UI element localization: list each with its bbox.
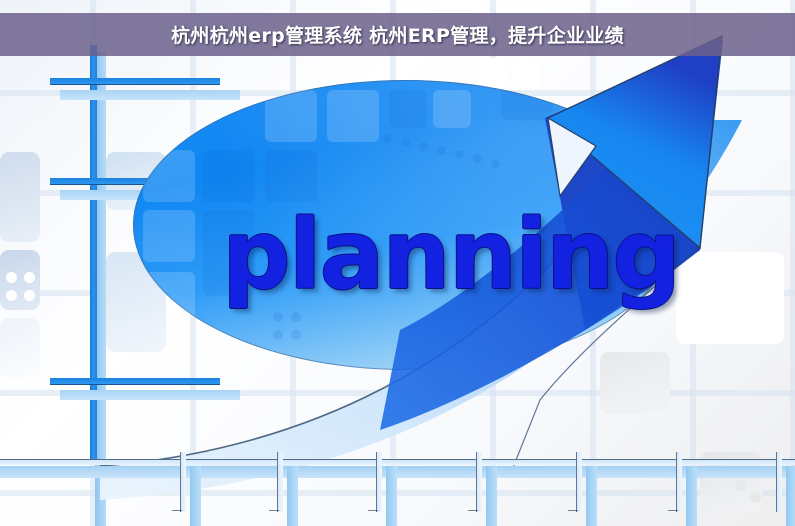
x-tick bbox=[376, 452, 382, 512]
x-tick-shadow bbox=[287, 466, 298, 526]
x-tick-shadow bbox=[786, 466, 795, 526]
x-tick bbox=[676, 452, 682, 512]
x-tick-shadow bbox=[686, 466, 697, 526]
banner-image: planning 杭州杭州erp管理系统 杭州ERP管理，提升企业业绩 bbox=[0, 0, 795, 526]
x-tick-foot bbox=[568, 510, 578, 511]
x-tick bbox=[180, 452, 186, 512]
x-tick-foot bbox=[368, 510, 378, 511]
x-tick-shadow bbox=[190, 466, 201, 526]
x-tick-foot bbox=[172, 510, 182, 511]
x-tick-shadow bbox=[386, 466, 397, 526]
x-tick bbox=[277, 452, 283, 512]
x-tick bbox=[476, 452, 482, 512]
x-tick-shadow bbox=[586, 466, 597, 526]
x-tick-shadow bbox=[486, 466, 497, 526]
x-tick-foot bbox=[668, 510, 678, 511]
title-banner-text: 杭州杭州erp管理系统 杭州ERP管理，提升企业业绩 bbox=[171, 21, 624, 48]
x-tick-foot bbox=[468, 510, 478, 511]
x-tick bbox=[776, 452, 782, 512]
x-tick-foot bbox=[269, 510, 279, 511]
title-banner: 杭州杭州erp管理系统 杭州ERP管理，提升企业业绩 bbox=[0, 13, 795, 56]
hero-word: planning bbox=[222, 207, 679, 303]
x-tick bbox=[576, 452, 582, 512]
